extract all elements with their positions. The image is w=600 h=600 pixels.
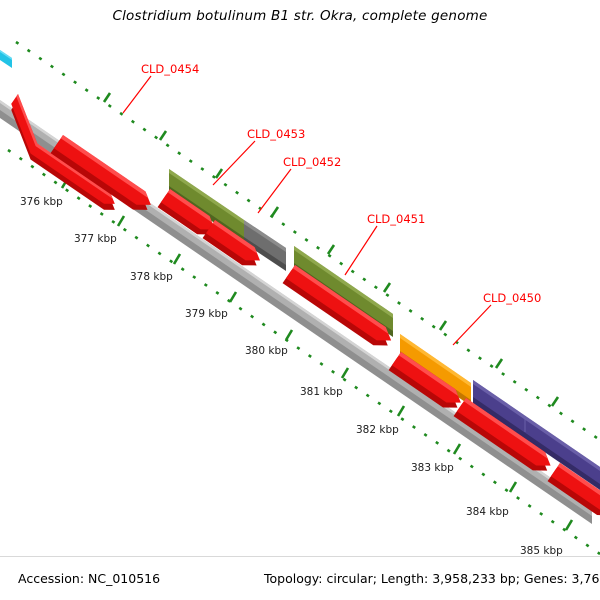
gene-label-CLD_0451[interactable]: CLD_0451 <box>367 212 425 226</box>
gene-label-CLD_0453[interactable]: CLD_0453 <box>247 127 305 141</box>
ruler-tick-label: 384 kbp <box>466 506 509 518</box>
ruler-tick-label: 377 kbp <box>74 233 117 245</box>
genome-summary-text: Topology: circular; Length: 3,958,233 bp… <box>264 571 600 586</box>
gene-label-CLD_0450[interactable]: CLD_0450 <box>483 291 541 305</box>
gene-feature-cyan[interactable] <box>0 50 12 68</box>
ruler-tick-label: 380 kbp <box>245 345 288 357</box>
ruler-tick-label: 378 kbp <box>130 271 173 283</box>
ruler-tick-label: 381 kbp <box>300 386 343 398</box>
leader-CLD_0453 <box>213 141 255 185</box>
ruler-tick-label: 383 kbp <box>411 462 454 474</box>
leader-CLD_0450 <box>453 305 491 345</box>
footer-divider <box>0 556 600 557</box>
ruler-tick-label: 376 kbp <box>20 196 63 208</box>
leader-CLD_0454 <box>123 76 151 113</box>
leader-CLD_0452 <box>258 169 291 213</box>
accession-text: Accession: NC_010516 <box>18 571 160 586</box>
ruler-major-ticks-upper <box>104 93 558 406</box>
gene-label-CLD_0452[interactable]: CLD_0452 <box>283 155 341 169</box>
gene-label-CLD_0454[interactable]: CLD_0454 <box>141 62 199 76</box>
ruler-tick-label: 382 kbp <box>356 424 399 436</box>
ruler-tick-label: 379 kbp <box>185 308 228 320</box>
genome-viewer: Clostridium botulinum B1 str. Okra, comp… <box>0 0 600 600</box>
ruler-major-ticks-lower <box>62 178 572 530</box>
ruler-dotted-line-lower <box>8 150 600 554</box>
leader-CLD_0451 <box>345 226 377 275</box>
